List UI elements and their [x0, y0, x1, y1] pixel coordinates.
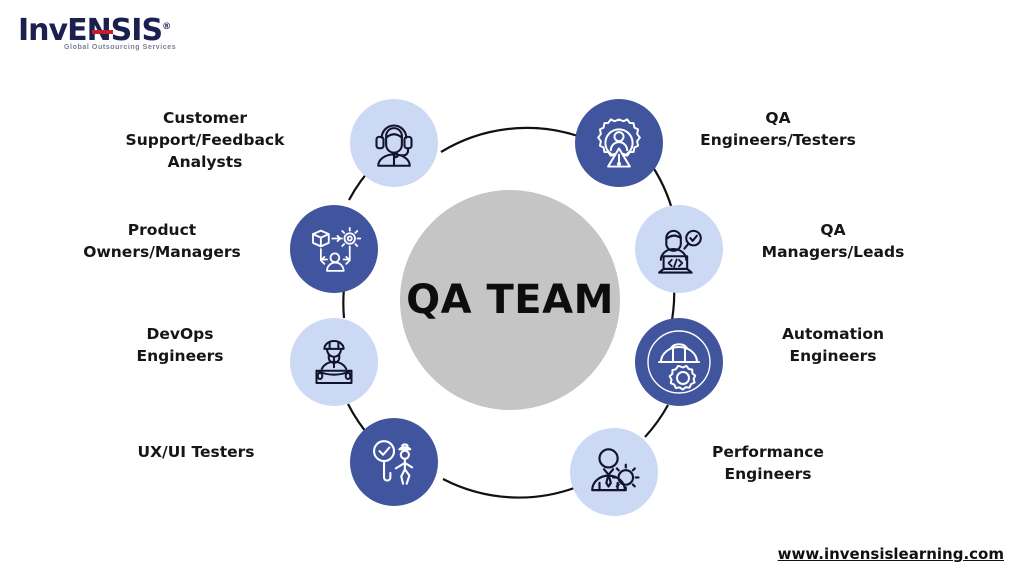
box-gear-person-workflow-icon	[306, 221, 362, 277]
label-devops-engineers: DevOps Engineers	[65, 323, 295, 367]
node-devops-engineers[interactable]	[290, 318, 378, 406]
label-line: Support/Feedback	[90, 129, 320, 151]
label-qa-engineers-testers: QA Engineers/Testers	[663, 107, 893, 151]
gear-person-warning-icon	[590, 114, 648, 172]
website-url[interactable]: www.invensislearning.com	[778, 545, 1004, 563]
label-automation-engineers: Automation Engineers	[718, 323, 948, 367]
node-ux-ui-testers[interactable]	[350, 418, 438, 506]
businessman-gear-icon	[585, 443, 643, 501]
developer-laptop-code-magnifier-icon	[650, 220, 708, 278]
engineer-blueprint-icon	[306, 334, 362, 390]
qa-team-circular-diagram: QA TEAM Customer Support/Feedback Analys…	[0, 0, 1024, 576]
ring-arc-left	[343, 288, 344, 318]
label-line: Analysts	[90, 151, 320, 173]
center-label: QA TEAM	[406, 277, 614, 323]
label-product-owners-managers: Product Owners/Managers	[47, 219, 277, 263]
center-hub: QA TEAM	[400, 190, 620, 410]
label-line: Performance	[653, 441, 883, 463]
label-line: Owners/Managers	[47, 241, 277, 263]
label-ux-ui-testers: UX/UI Testers	[81, 441, 311, 463]
headset-support-agent-icon	[366, 115, 422, 171]
label-line: Engineers/Testers	[663, 129, 893, 151]
magnifier-check-worker-icon	[365, 433, 423, 491]
label-line: QA	[718, 219, 948, 241]
label-line: Managers/Leads	[718, 241, 948, 263]
label-performance-engineers: Performance Engineers	[653, 441, 883, 485]
label-customer-support-feedback-analysts: Customer Support/Feedback Analysts	[90, 107, 320, 173]
label-line: Customer	[90, 107, 320, 129]
label-line: Engineers	[65, 345, 295, 367]
hardhat-gear-icon	[643, 326, 715, 398]
node-automation-engineers[interactable]	[635, 318, 723, 406]
node-qa-managers-leads[interactable]	[635, 205, 723, 293]
node-product-owners-managers[interactable]	[290, 205, 378, 293]
label-line: Automation	[718, 323, 948, 345]
label-line: DevOps	[65, 323, 295, 345]
label-line: QA	[663, 107, 893, 129]
ring-arc-top	[441, 128, 578, 152]
node-performance-engineers[interactable]	[570, 428, 658, 516]
ring-arc-lower-right	[645, 405, 668, 437]
label-line: UX/UI Testers	[81, 441, 311, 463]
ring-arc-bottom	[443, 479, 577, 498]
label-line: Product	[47, 219, 277, 241]
label-qa-managers-leads: QA Managers/Leads	[718, 219, 948, 263]
label-line: Engineers	[718, 345, 948, 367]
label-line: Engineers	[653, 463, 883, 485]
node-qa-engineers-testers[interactable]	[575, 99, 663, 187]
node-customer-support-feedback-analysts[interactable]	[350, 99, 438, 187]
